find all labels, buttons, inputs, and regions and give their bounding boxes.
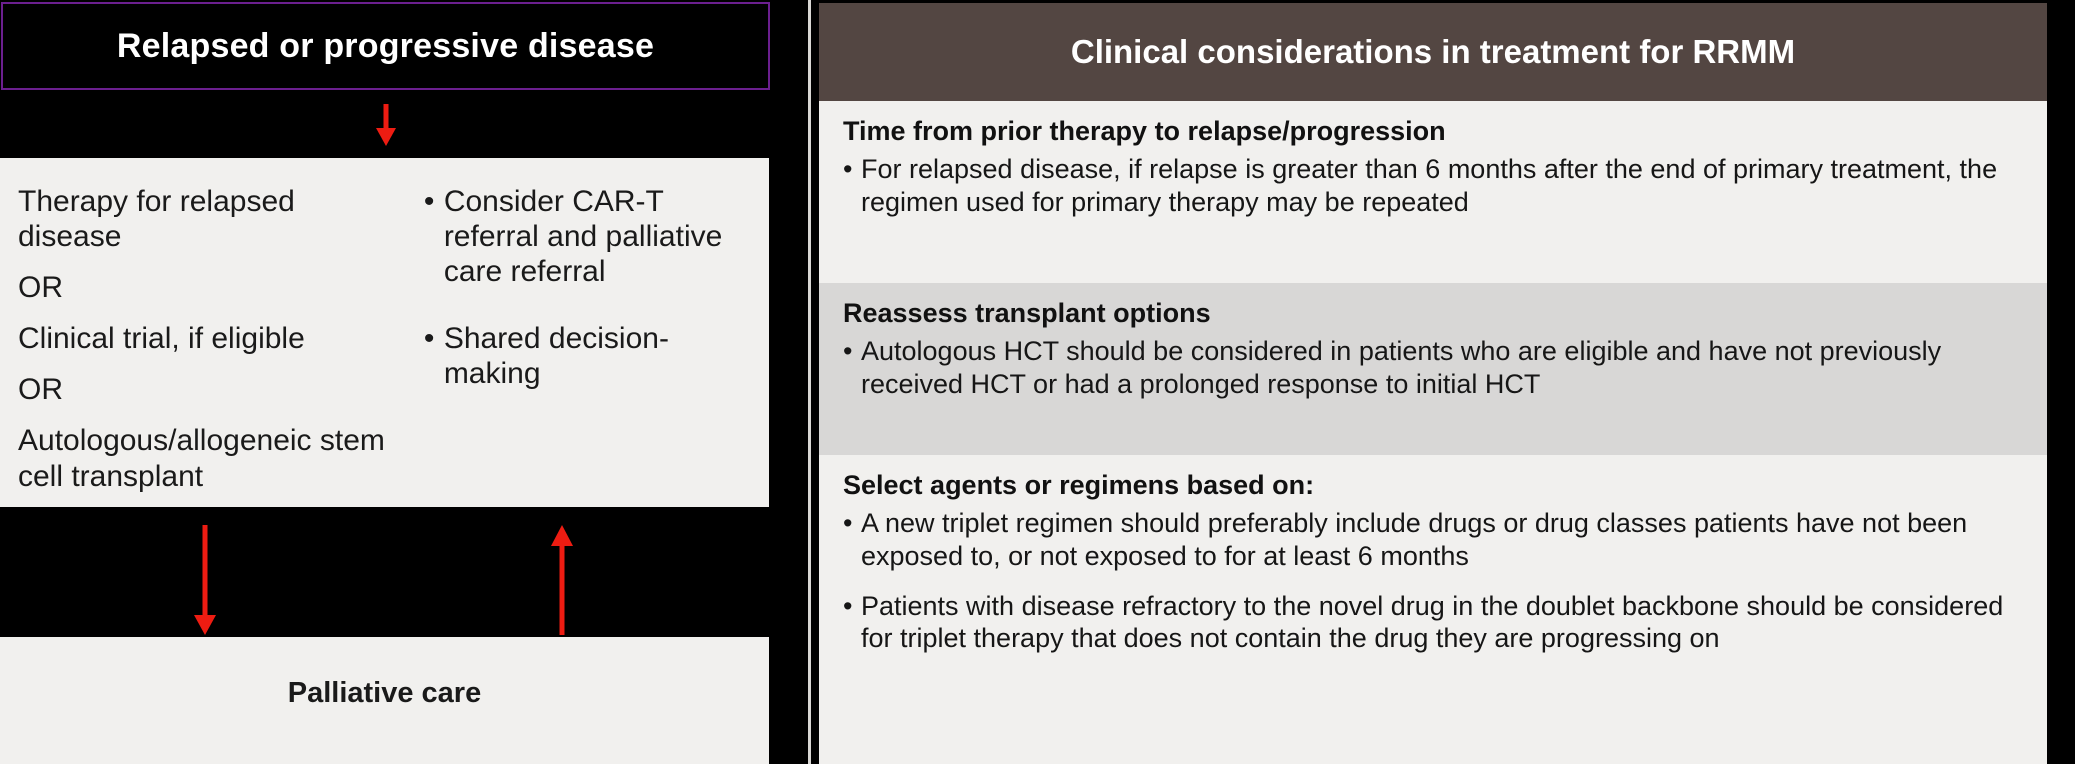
option-bullet-car-t-referral-label: Consider CAR-T referral and palliative c… <box>444 185 722 288</box>
bullet-dot-icon: • <box>843 590 852 622</box>
bullet-dot-icon: • <box>424 184 435 219</box>
section-time-from-prior-therapy: Time from prior therapy to relapse/progr… <box>819 101 2047 283</box>
option-bullet-shared-decision-making: • Shared decision-making <box>424 321 751 391</box>
section-bullet-label: Patients with disease refractory to the … <box>861 591 2003 653</box>
section-bullet: • Patients with disease refractory to th… <box>843 590 2025 654</box>
treatment-options-right-column: • Consider CAR-T referral and palliative… <box>414 184 751 487</box>
slide-canvas: Relapsed or progressive disease Therapy … <box>0 0 2075 764</box>
option-or-2: OR <box>18 372 406 407</box>
panel-divider <box>808 0 811 764</box>
treatment-options-left-column: Therapy for relapsed disease OR Clinical… <box>18 184 414 487</box>
section-reassess-transplant-options: Reassess transplant options • Autologous… <box>819 283 2047 455</box>
clinical-considerations-panel: Clinical considerations in treatment for… <box>819 0 2047 764</box>
bullet-dot-icon: • <box>843 507 852 539</box>
bullet-dot-icon: • <box>424 321 435 356</box>
bullet-dot-icon: • <box>843 335 852 367</box>
arrow-up-palliative-to-options <box>542 525 582 635</box>
section-heading: Time from prior therapy to relapse/progr… <box>843 115 2025 147</box>
arrow-down-options-to-palliative <box>185 525 225 637</box>
section-bullet-label: Autologous HCT should be considered in p… <box>861 336 1941 398</box>
option-clinical-trial: Clinical trial, if eligible <box>18 321 406 356</box>
relapsed-disease-title: Relapsed or progressive disease <box>117 27 654 66</box>
section-heading: Select agents or regimens based on: <box>843 469 2025 501</box>
relapsed-disease-flowchart-panel: Relapsed or progressive disease Therapy … <box>0 0 808 764</box>
section-bullet: • For relapsed disease, if relapse is gr… <box>843 153 2025 217</box>
option-or-1: OR <box>18 270 406 305</box>
clinical-considerations-header: Clinical considerations in treatment for… <box>819 3 2047 101</box>
section-bullet: • Autologous HCT should be considered in… <box>843 335 2025 399</box>
clinical-considerations-title: Clinical considerations in treatment for… <box>1071 33 1795 71</box>
section-bullet-label: For relapsed disease, if relapse is grea… <box>861 154 1997 216</box>
option-bullet-car-t-referral: • Consider CAR-T referral and palliative… <box>424 184 751 289</box>
palliative-care-label: Palliative care <box>288 677 481 710</box>
option-therapy-relapsed: Therapy for relapsed disease <box>18 184 406 254</box>
section-bullet: • A new triplet regimen should preferabl… <box>843 507 2025 571</box>
option-bullet-shared-decision-making-label: Shared decision-making <box>444 322 669 390</box>
option-stem-cell-transplant: Autologous/allogeneic stem cell transpla… <box>18 423 406 493</box>
section-bullet-label: A new triplet regimen should preferably … <box>861 508 1967 570</box>
section-select-agents-or-regimens: Select agents or regimens based on: • A … <box>819 455 2047 764</box>
palliative-care-box: Palliative care <box>0 637 769 764</box>
section-heading: Reassess transplant options <box>843 297 2025 329</box>
treatment-options-box: Therapy for relapsed disease OR Clinical… <box>0 158 769 507</box>
bullet-dot-icon: • <box>843 153 852 185</box>
arrow-down-title-to-options <box>366 104 406 148</box>
relapsed-or-progressive-disease-box: Relapsed or progressive disease <box>1 2 770 90</box>
